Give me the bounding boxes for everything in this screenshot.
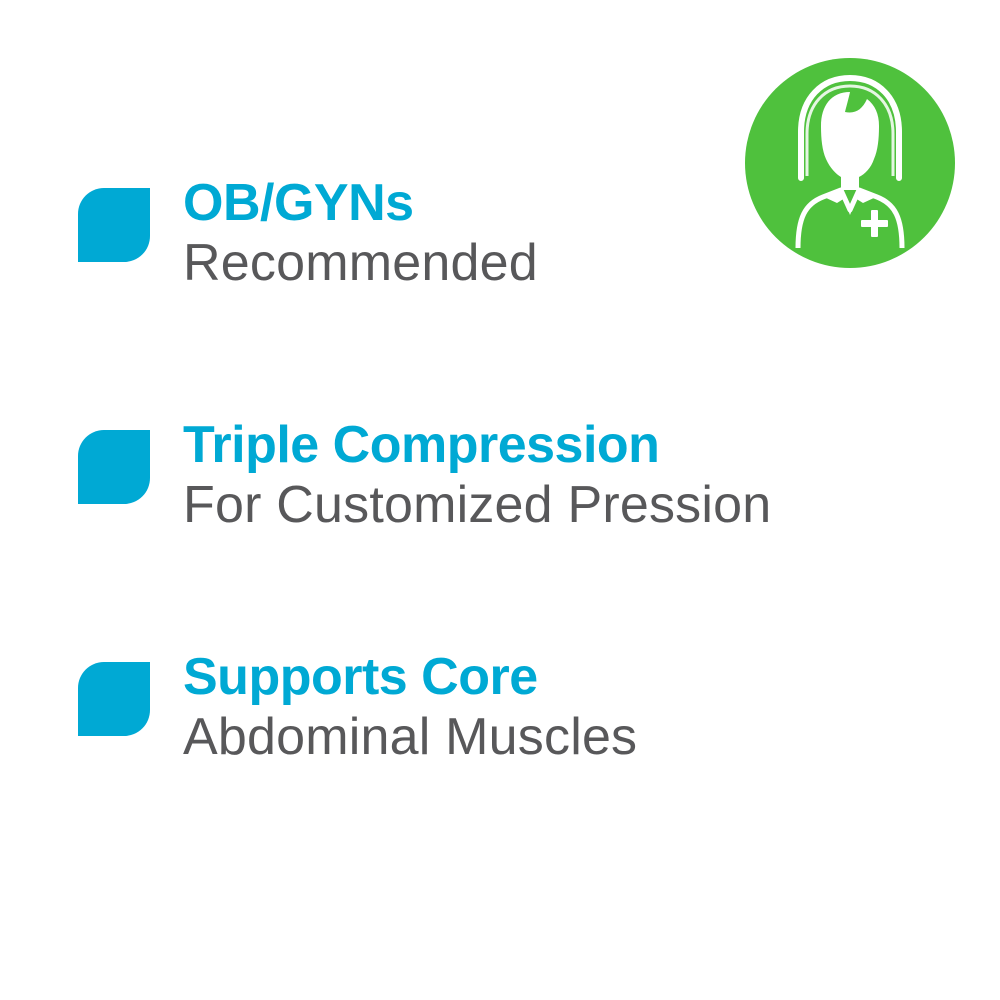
feature-title: Triple Compression [183, 417, 771, 473]
feature-text-group: OB/GYNs Recommended [183, 175, 538, 293]
leaf-square-bullet-icon [78, 662, 150, 736]
feature-item-supports-core: Supports Core Abdominal Muscles [78, 649, 978, 767]
feature-subtitle: Recommended [183, 233, 538, 293]
leaf-square-bullet-icon [78, 430, 150, 504]
leaf-square-bullet-icon [78, 188, 150, 262]
feature-title: OB/GYNs [183, 175, 538, 231]
feature-text-group: Supports Core Abdominal Muscles [183, 649, 637, 767]
feature-item-obgyns: OB/GYNs Recommended [78, 175, 978, 293]
feature-item-triple-compression: Triple Compression For Customized Pressi… [78, 417, 978, 535]
feature-title: Supports Core [183, 649, 637, 705]
feature-subtitle: For Customized Pression [183, 475, 771, 535]
feature-highlight-graphic: OB/GYNs Recommended Triple Compression F… [0, 0, 1000, 1000]
feature-text-group: Triple Compression For Customized Pressi… [183, 417, 771, 535]
feature-subtitle: Abdominal Muscles [183, 707, 637, 767]
